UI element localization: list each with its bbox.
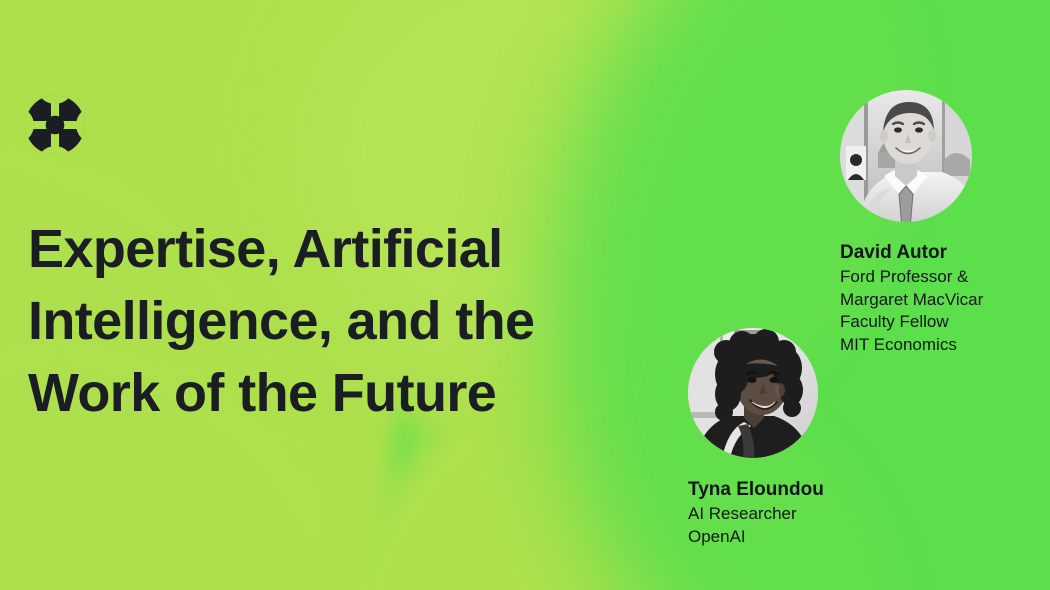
page-title: Expertise, Artificial Intelligence, and … bbox=[28, 213, 688, 429]
portrait-tyna-eloundou-icon bbox=[688, 328, 818, 458]
title-line-2: Intelligence, and the bbox=[28, 285, 688, 357]
title-line-1: Expertise, Artificial bbox=[28, 213, 688, 285]
speaker-affiliation: Ford Professor & Margaret MacVicar Facul… bbox=[840, 266, 983, 356]
event-title-card: Expertise, Artificial Intelligence, and … bbox=[0, 0, 1050, 590]
speaker-card-david-autor: David Autor Ford Professor & Margaret Ma… bbox=[840, 90, 983, 356]
speaker-affiliation-line: Faculty Fellow bbox=[840, 311, 983, 334]
speaker-name: David Autor bbox=[840, 240, 983, 265]
speaker-affiliation-line: AI Researcher bbox=[688, 503, 824, 526]
speaker-affiliation-line: MIT Economics bbox=[840, 334, 983, 357]
speaker-affiliation-line: OpenAI bbox=[688, 526, 824, 549]
brand-logo bbox=[24, 94, 86, 156]
avatar-david-autor bbox=[840, 90, 972, 222]
portrait-david-autor-icon bbox=[840, 90, 972, 222]
speaker-affiliation-line: Ford Professor & bbox=[840, 266, 983, 289]
speaker-name: Tyna Eloundou bbox=[688, 477, 824, 502]
title-line-3: Work of the Future bbox=[28, 357, 688, 429]
speaker-affiliation: AI Researcher OpenAI bbox=[688, 503, 824, 548]
speaker-affiliation-line: Margaret MacVicar bbox=[840, 289, 983, 312]
avatar-tyna-eloundou bbox=[688, 328, 818, 458]
petal-circle-logo-icon bbox=[24, 94, 86, 156]
speaker-card-tyna-eloundou: Tyna Eloundou AI Researcher OpenAI bbox=[688, 328, 824, 548]
